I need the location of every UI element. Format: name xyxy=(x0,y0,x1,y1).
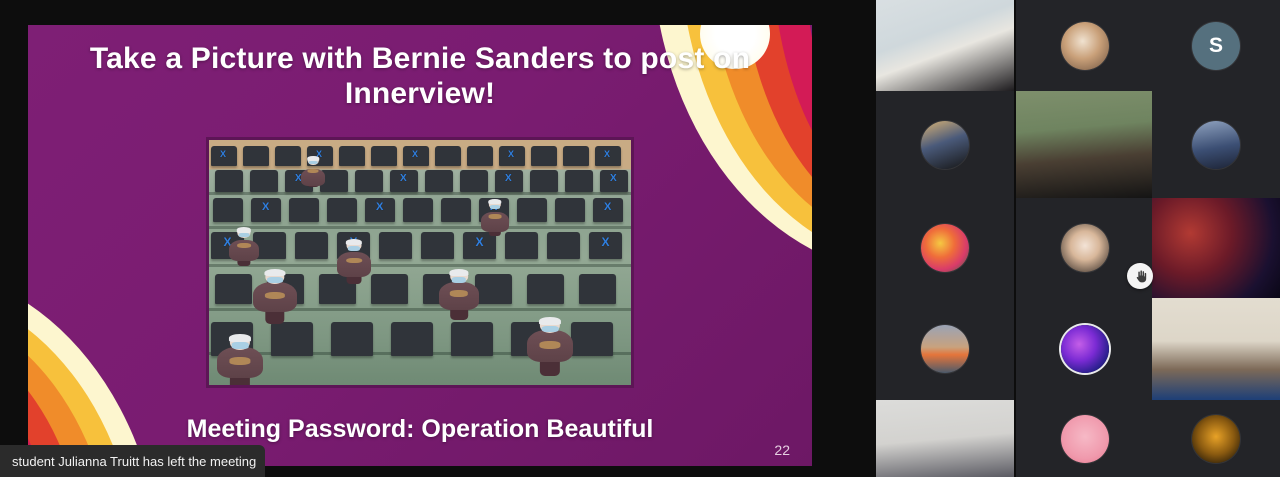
lecture-chair xyxy=(527,274,564,304)
lecture-chair xyxy=(213,198,243,222)
lecture-chair xyxy=(250,170,278,192)
lecture-chair xyxy=(379,232,412,259)
participant-avatar xyxy=(921,325,969,373)
participant-tile[interactable] xyxy=(1016,91,1154,198)
participant-video xyxy=(1016,91,1154,198)
distancing-x-marker: X xyxy=(508,150,514,159)
shared-screen-region[interactable]: Take a Picture with Bernie Sanders to po… xyxy=(0,0,876,477)
participant-tile[interactable] xyxy=(1016,298,1154,400)
lecture-chair xyxy=(371,146,397,166)
bernie-figure xyxy=(439,270,479,320)
lecture-chair xyxy=(295,232,328,259)
lecture-chair xyxy=(441,198,471,222)
participant-video xyxy=(876,400,1014,477)
distancing-x-marker: X xyxy=(602,236,610,248)
lecture-chair xyxy=(579,274,616,304)
distancing-x-marker: X xyxy=(220,150,226,159)
bernie-figure xyxy=(253,270,297,324)
bernie-figure xyxy=(217,335,263,388)
distancing-x-marker: X xyxy=(604,202,611,213)
participant-tile[interactable] xyxy=(1016,0,1154,91)
participant-tile[interactable] xyxy=(876,400,1014,477)
hall-step xyxy=(209,192,631,195)
participant-initial-avatar: S xyxy=(1192,22,1240,70)
participant-tile[interactable] xyxy=(876,0,1014,91)
lecture-chair xyxy=(371,274,408,304)
lecture-chair xyxy=(391,322,433,356)
distancing-x-marker: X xyxy=(400,174,407,184)
participant-avatar xyxy=(1192,121,1240,169)
lecture-chair xyxy=(547,232,580,259)
lecture-chair xyxy=(565,170,593,192)
lecture-chair xyxy=(421,232,454,259)
raise-hand-icon[interactable] xyxy=(1127,263,1153,289)
participant-tile[interactable] xyxy=(1152,91,1280,198)
lecture-chair xyxy=(289,198,319,222)
participant-avatar xyxy=(1061,224,1109,272)
lecture-chair xyxy=(327,198,357,222)
distancing-x-marker: X xyxy=(262,202,269,213)
notification-toast: student Julianna Truitt has left the mee… xyxy=(0,445,265,477)
lecture-chair xyxy=(271,322,313,356)
lecture-chair xyxy=(275,146,301,166)
toast-message: student Julianna Truitt has left the mee… xyxy=(12,454,256,469)
distancing-x-marker: X xyxy=(505,174,512,184)
bernie-meme-photo: XXXXXXXXXXXXXXXXX xyxy=(206,137,634,388)
participant-tile[interactable] xyxy=(876,298,1014,400)
participant-tile[interactable] xyxy=(1152,198,1280,298)
slide-caption: Meeting Password: Operation Beautiful xyxy=(88,415,752,444)
lecture-chair xyxy=(563,146,589,166)
presentation-slide[interactable]: Take a Picture with Bernie Sanders to po… xyxy=(28,25,812,466)
slide-title: Take a Picture with Bernie Sanders to po… xyxy=(88,41,752,112)
distancing-x-marker: X xyxy=(412,150,418,159)
participant-video xyxy=(876,0,1014,91)
bernie-figure xyxy=(229,228,259,266)
lecture-chair xyxy=(460,170,488,192)
lecture-chair xyxy=(215,274,252,304)
bernie-figure xyxy=(337,240,371,284)
participant-video xyxy=(1152,298,1280,400)
lecture-chair xyxy=(467,146,493,166)
distancing-x-marker: X xyxy=(604,150,610,159)
bernie-figure xyxy=(527,318,573,376)
participant-tile[interactable] xyxy=(1016,400,1154,477)
lecture-chair xyxy=(355,170,383,192)
lecture-chair xyxy=(517,198,547,222)
participant-avatar xyxy=(1061,415,1109,463)
lecture-chair xyxy=(555,198,585,222)
lecture-chair xyxy=(531,146,557,166)
slide-number: 22 xyxy=(774,442,790,458)
hall-step xyxy=(209,226,631,229)
participant-grid[interactable]: S xyxy=(876,0,1280,477)
lecture-chair xyxy=(243,146,269,166)
participant-avatar xyxy=(1061,22,1109,70)
lecture-chair xyxy=(339,146,365,166)
participant-avatar xyxy=(921,121,969,169)
lecture-chair xyxy=(215,170,243,192)
participant-tile[interactable]: S xyxy=(1152,0,1280,91)
hall-step xyxy=(209,264,631,267)
distancing-x-marker: X xyxy=(610,174,617,184)
lecture-chair xyxy=(571,322,613,356)
bernie-figure xyxy=(301,157,325,187)
video-conference-screen: Take a Picture with Bernie Sanders to po… xyxy=(0,0,1280,477)
bernie-figure xyxy=(481,200,509,236)
participant-tile[interactable] xyxy=(1152,298,1280,400)
lecture-chair xyxy=(505,232,538,259)
participant-tile[interactable] xyxy=(1152,400,1280,477)
lecture-chair xyxy=(403,198,433,222)
distancing-x-marker: X xyxy=(376,202,383,213)
participant-tile[interactable] xyxy=(876,91,1014,198)
lecture-chair xyxy=(475,274,512,304)
participant-tile[interactable] xyxy=(876,198,1014,298)
lecture-chair xyxy=(451,322,493,356)
participant-avatar xyxy=(1061,325,1109,373)
distancing-x-marker: X xyxy=(476,236,484,248)
participant-avatar xyxy=(1192,415,1240,463)
participant-avatar xyxy=(921,224,969,272)
lecture-chair xyxy=(425,170,453,192)
lecture-chair xyxy=(435,146,461,166)
participant-video xyxy=(1152,198,1280,298)
lecture-chair xyxy=(331,322,373,356)
lecture-chair xyxy=(530,170,558,192)
